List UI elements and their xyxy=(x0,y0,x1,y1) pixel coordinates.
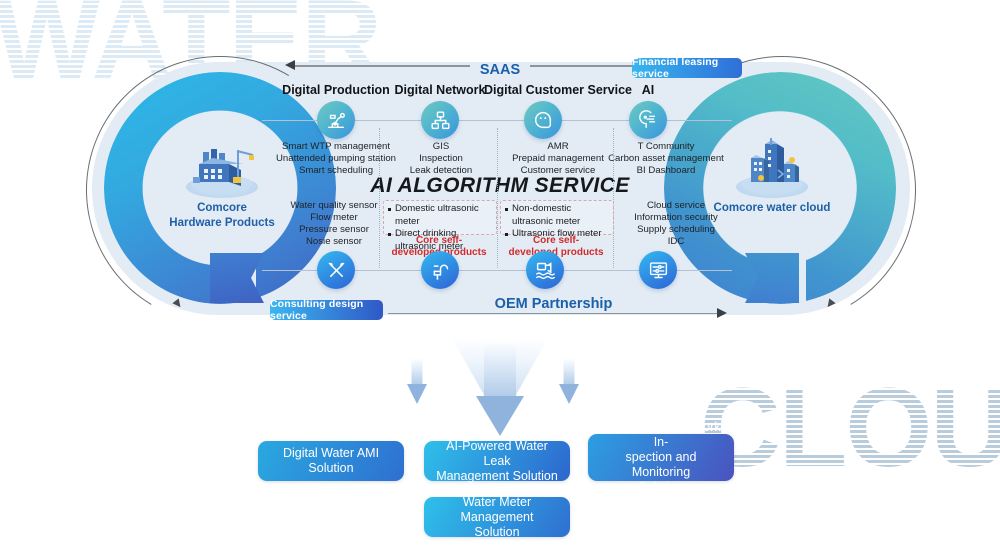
list-item: GIS xyxy=(386,141,496,153)
oem-connector-line xyxy=(388,313,719,314)
down-arrow-left-icon xyxy=(400,358,434,410)
solution-line1: AI-Powered Water Leak xyxy=(434,439,560,469)
dashboard-monitor-icon[interactable] xyxy=(639,251,677,289)
column-heading-ai: AI xyxy=(608,83,688,97)
list-item: Non-domestic ultrasonic meter xyxy=(505,203,609,228)
solution-line1: Digital Water AMI Solution xyxy=(268,446,394,476)
solution-line1: Smart Water Network In- xyxy=(598,420,724,450)
column-separator xyxy=(613,128,614,268)
saas-label-text: SAAS xyxy=(470,62,530,78)
list-item: Cloud service xyxy=(618,200,734,212)
list-item: T Community xyxy=(598,141,734,153)
core-caption-line1: Core self- xyxy=(500,235,612,247)
ai-algorithm-service-title: AI ALGORITHM SERVICE xyxy=(0,174,1000,198)
node-label-line2: Hardware Products xyxy=(163,217,281,230)
column-items-ai: T Community Carbon asset management BI D… xyxy=(598,141,734,177)
list-item: Carbon asset management xyxy=(598,153,734,165)
lower-column-items-cloud: Cloud service Information security Suppl… xyxy=(618,200,734,248)
list-item: Supply scheduling xyxy=(618,224,734,236)
watermark-cloud: CLOUD xyxy=(695,370,1000,485)
column-items-digital-network: GIS Inspection Leak detection xyxy=(386,141,496,177)
solution-line3: Solution xyxy=(598,480,724,495)
solution-pill-water-meter-management[interactable]: Water Meter Management Solution xyxy=(424,497,570,537)
down-arrow-center-icon xyxy=(452,340,548,436)
list-item: IDC xyxy=(618,236,734,248)
saas-label: SAAS xyxy=(0,62,1000,78)
solution-pill-ai-leak-management[interactable]: AI-Powered Water Leak Management Solutio… xyxy=(424,441,570,481)
lower-column-items-sensors: Water quality sensor Flow meter Pressure… xyxy=(288,200,380,248)
core-caption-line1: Core self- xyxy=(383,235,495,247)
down-arrow-right-icon xyxy=(552,358,586,410)
network-topology-icon[interactable] xyxy=(421,101,459,139)
list-item: Pressure sensor xyxy=(288,224,380,236)
robot-arm-icon[interactable] xyxy=(317,101,355,139)
badge-consulting-design[interactable]: Consulting design service xyxy=(270,300,383,320)
oem-partnership-label: OEM Partnership xyxy=(388,296,719,312)
faucet-icon[interactable] xyxy=(421,251,459,289)
chat-smile-icon[interactable] xyxy=(524,101,562,139)
solution-line2: Solution xyxy=(434,525,560,540)
list-item: Nosie sensor xyxy=(288,236,380,248)
list-item: Domestic ultrasonic meter xyxy=(388,203,492,228)
solution-line2: Management Solution xyxy=(434,469,560,484)
column-heading-digital-network: Digital Network xyxy=(385,83,495,97)
list-item: Inspection xyxy=(386,153,496,165)
diagram-canvas: WATER CLOUD xyxy=(0,0,1000,547)
water-discharge-icon[interactable] xyxy=(526,251,564,289)
ai-head-icon[interactable] xyxy=(629,101,667,139)
solution-line2: spection and Monitoring xyxy=(598,450,724,480)
solution-line1: Water Meter Management xyxy=(434,495,560,525)
solution-pill-digital-water-ami[interactable]: Digital Water AMI Solution xyxy=(258,441,404,481)
node-label-line1: Comcore xyxy=(163,202,281,215)
list-item: Flow meter xyxy=(288,212,380,224)
tools-icon[interactable] xyxy=(317,251,355,289)
list-item: Water quality sensor xyxy=(288,200,380,212)
list-item: Information security xyxy=(618,212,734,224)
watermark-cloud-text: CLOUD xyxy=(700,372,1000,484)
column-separator xyxy=(497,128,498,268)
column-heading-digital-production: Digital Production xyxy=(274,83,398,97)
badge-financial-leasing[interactable]: Financial leasing service xyxy=(632,58,742,78)
oem-label-text: OEM Partnership xyxy=(487,296,621,312)
solution-pill-smart-water-network[interactable]: Smart Water Network In- spection and Mon… xyxy=(588,434,734,481)
